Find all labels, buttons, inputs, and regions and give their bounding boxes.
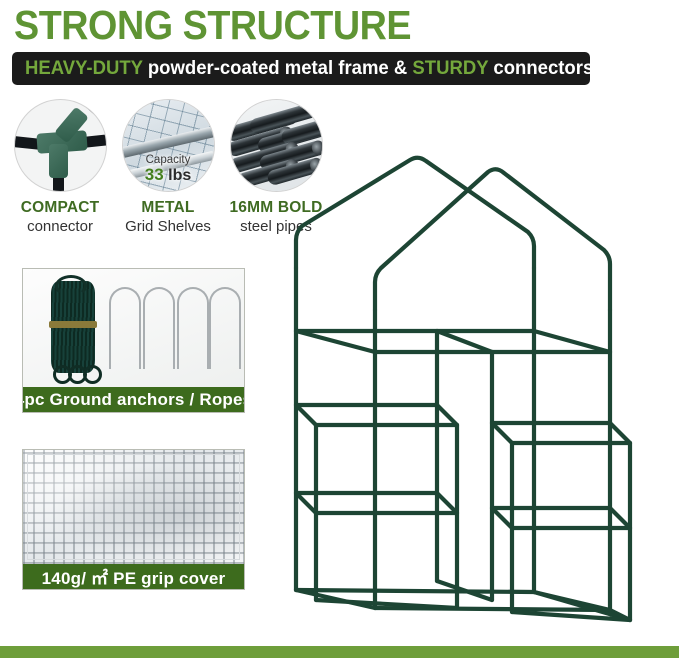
footer-accent-bar (0, 646, 679, 658)
greenhouse-frame-illustration (0, 0, 679, 658)
product-infographic: STRONG STRUCTURE HEAVY-DUTY powder-coate… (0, 0, 679, 658)
